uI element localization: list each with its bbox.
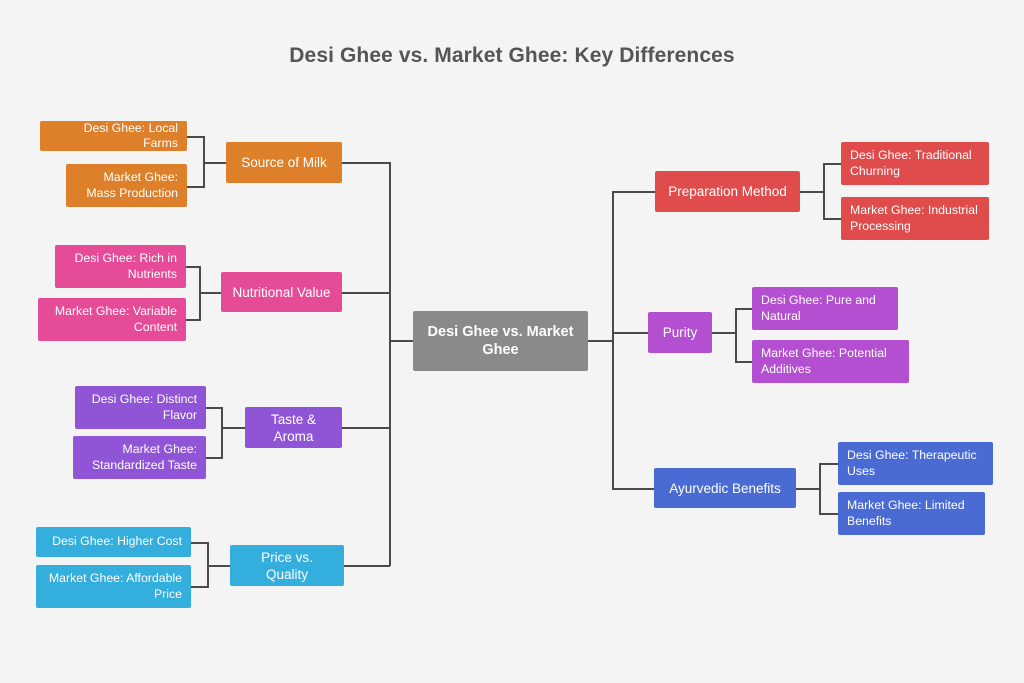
leaf-node-market-potential-additives[interactable]: Market Ghee: Potential Additives (752, 340, 909, 383)
connector-bracket-to-leaf-potential-additives (735, 361, 753, 363)
connector-bracket-to-leaf-variable-content (186, 319, 201, 321)
leaf-node-market-standardized-taste[interactable]: Market Ghee: Standardized Taste (73, 436, 206, 479)
leaf-node-market-industrial-processing[interactable]: Market Ghee: Industrial Processing (841, 197, 989, 240)
leaf-label: Market Ghee: Standardized Taste (82, 442, 197, 473)
connector-node-to-bracket-source (204, 162, 228, 164)
connector-bracket-to-leaf-therapeutic-uses (819, 463, 839, 465)
connector-bracket-to-leaf-pure-natural (735, 308, 753, 310)
leaf-node-market-variable-content[interactable]: Market Ghee: Variable Content (38, 298, 186, 341)
connector-trunk-to-source-of-milk (342, 162, 390, 164)
branch-label: Preparation Method (668, 183, 787, 200)
connector-trunk-to-price-quality (342, 565, 390, 567)
leaf-node-desi-therapeutic-uses[interactable]: Desi Ghee: Therapeutic Uses (838, 442, 993, 485)
leaf-label: Desi Ghee: Local Farms (49, 121, 178, 152)
leaf-label: Desi Ghee: Pure and Natural (761, 293, 889, 324)
connector-bracket-nutrition (199, 266, 201, 320)
leaf-node-market-limited-benefits[interactable]: Market Ghee: Limited Benefits (838, 492, 985, 535)
connector-trunk-to-nutritional-value (342, 292, 390, 294)
connector-bracket-to-leaf-rich-nutrients (186, 266, 201, 268)
branch-node-purity[interactable]: Purity (648, 312, 712, 353)
leaf-node-market-mass-production[interactable]: Market Ghee: Mass Production (66, 164, 187, 207)
leaf-label: Market Ghee: Industrial Processing (850, 203, 980, 234)
leaf-node-market-affordable-price[interactable]: Market Ghee: Affordable Price (36, 565, 191, 608)
mindmap-canvas: Desi Ghee vs. Market Ghee: Key Differenc… (0, 0, 1024, 683)
leaf-label: Market Ghee: Limited Benefits (847, 498, 976, 529)
leaf-label: Desi Ghee: Rich in Nutrients (64, 251, 177, 282)
connector-bracket-to-leaf-limited-benefits (819, 513, 839, 515)
connector-left-trunk-to-root (389, 340, 414, 342)
branch-node-nutritional-value[interactable]: Nutritional Value (221, 272, 342, 312)
leaf-node-desi-local-farms[interactable]: Desi Ghee: Local Farms (40, 121, 187, 151)
branch-label: Taste & Aroma (255, 411, 332, 445)
connector-node-to-bracket-purity (712, 332, 736, 334)
connector-bracket-preparation (823, 163, 825, 219)
branch-label: Nutritional Value (232, 284, 330, 301)
branch-label: Source of Milk (241, 154, 327, 171)
connector-bracket-source (203, 136, 205, 187)
root-node[interactable]: Desi Ghee vs. Market Ghee (413, 311, 588, 371)
leaf-node-desi-traditional-churning[interactable]: Desi Ghee: Traditional Churning (841, 142, 989, 185)
connector-trunk-to-purity (612, 332, 649, 334)
branch-node-price-vs-quality[interactable]: Price vs. Quality (230, 545, 344, 586)
leaf-label: Desi Ghee: Higher Cost (52, 534, 182, 549)
branch-node-source-of-milk[interactable]: Source of Milk (226, 142, 342, 183)
page-title: Desi Ghee vs. Market Ghee: Key Differenc… (0, 44, 1024, 68)
connector-bracket-to-leaf-industrial-processing (823, 218, 842, 220)
connector-bracket-to-leaf-affordable-price (191, 586, 209, 588)
connector-node-to-bracket-preparation (800, 191, 824, 193)
connector-bracket-to-leaf-standardized-taste (206, 457, 223, 459)
leaf-node-desi-pure-natural[interactable]: Desi Ghee: Pure and Natural (752, 287, 898, 330)
connector-node-to-bracket-ayurvedic (796, 488, 820, 490)
leaf-label: Desi Ghee: Therapeutic Uses (847, 448, 984, 479)
connector-node-to-bracket-taste (222, 427, 246, 429)
connector-bracket-to-leaf-traditional-churning (823, 163, 842, 165)
connector-bracket-to-leaf-mass-production (187, 186, 205, 188)
branch-label: Price vs. Quality (240, 549, 334, 583)
branch-node-preparation-method[interactable]: Preparation Method (655, 171, 800, 212)
connector-trunk-to-ayurvedic-benefits (612, 488, 655, 490)
branch-label: Ayurvedic Benefits (669, 480, 781, 497)
leaf-node-desi-higher-cost[interactable]: Desi Ghee: Higher Cost (36, 527, 191, 557)
leaf-node-desi-distinct-flavor[interactable]: Desi Ghee: Distinct Flavor (75, 386, 206, 429)
leaf-node-desi-rich-nutrients[interactable]: Desi Ghee: Rich in Nutrients (55, 245, 186, 288)
connector-bracket-to-leaf-distinct-flavor (206, 407, 223, 409)
leaf-label: Market Ghee: Affordable Price (45, 571, 182, 602)
branch-node-ayurvedic-benefits[interactable]: Ayurvedic Benefits (654, 468, 796, 508)
connector-trunk-to-preparation-method (612, 191, 656, 193)
connector-bracket-ayurvedic (819, 463, 821, 514)
connector-node-to-bracket-price (208, 565, 232, 567)
leaf-label: Desi Ghee: Traditional Churning (850, 148, 980, 179)
connector-root-to-right-trunk (588, 340, 614, 342)
root-node-label: Desi Ghee vs. Market Ghee (425, 323, 576, 360)
connector-bracket-price (207, 542, 209, 587)
leaf-label: Market Ghee: Potential Additives (761, 346, 900, 377)
leaf-label: Desi Ghee: Distinct Flavor (84, 392, 197, 423)
leaf-label: Market Ghee: Variable Content (47, 304, 177, 335)
leaf-label: Market Ghee: Mass Production (75, 170, 178, 201)
connector-bracket-to-leaf-higher-cost (191, 542, 209, 544)
connector-bracket-taste (221, 407, 223, 458)
connector-bracket-purity (735, 308, 737, 362)
branch-node-taste-aroma[interactable]: Taste & Aroma (245, 407, 342, 448)
connector-bracket-to-leaf-local-farms (187, 136, 205, 138)
connector-trunk-to-taste-aroma (342, 427, 390, 429)
connector-left-trunk (389, 162, 391, 566)
branch-label: Purity (663, 324, 698, 341)
